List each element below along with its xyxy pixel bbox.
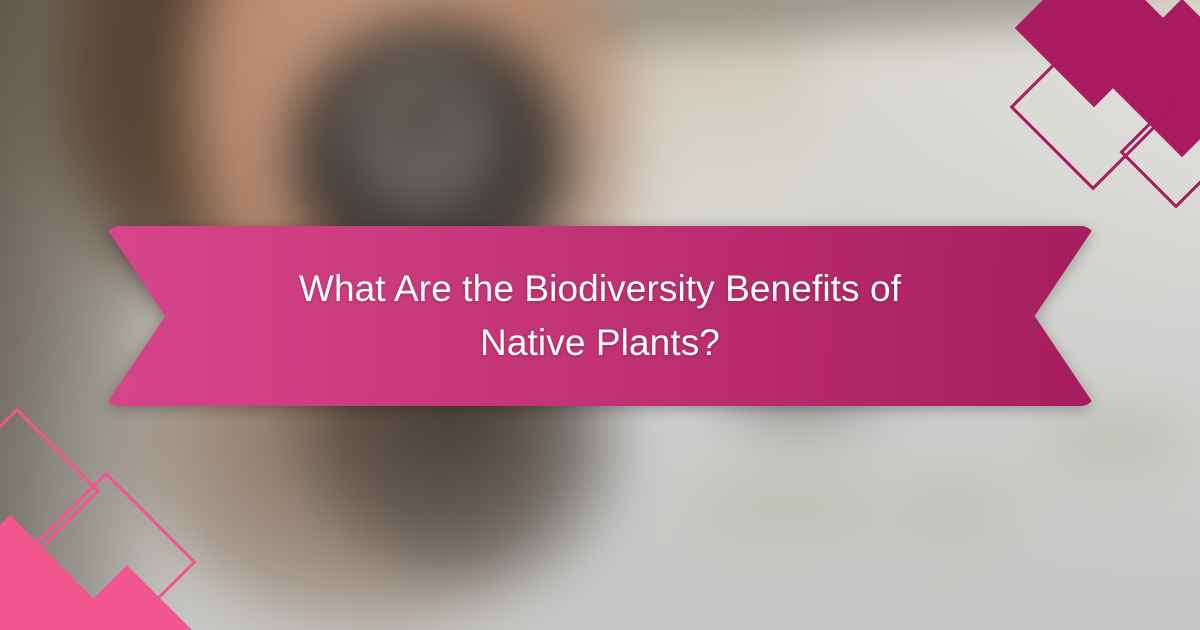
- background-blurred-text: [706, 490, 865, 518]
- page-title: What Are the Biodiversity Benefits of Na…: [105, 226, 1095, 406]
- background-blurred-text: [1056, 424, 1173, 452]
- background-dumbbell-core: [383, 87, 434, 138]
- social-share-card: What Are the Biodiversity Benefits of Na…: [0, 0, 1200, 630]
- background-blurred-text: [902, 495, 997, 520]
- title-ribbon: What Are the Biodiversity Benefits of Na…: [105, 226, 1095, 406]
